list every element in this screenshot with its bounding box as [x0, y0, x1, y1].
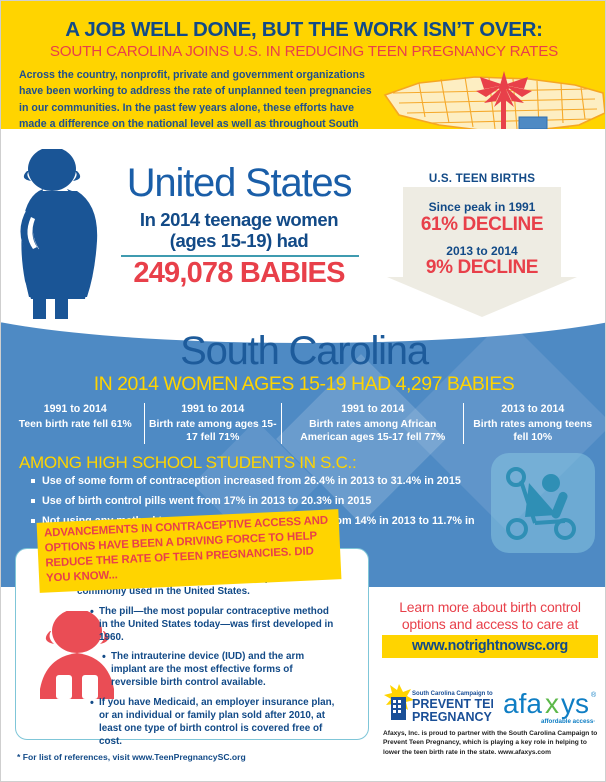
did-you-know-list: There are currently 18 types of contrace… [68, 573, 358, 756]
know-bullet: The pill—the most popular contraceptive … [90, 606, 339, 645]
sc-campaign-logo: South Carolina Campaign to PREVENT TEEN … [381, 681, 493, 725]
callout-period-1: Since peak in 1991 [387, 200, 577, 214]
sc-stat-1-text: Teen birth rate fell 61% [11, 418, 140, 431]
callout-period-2: 2013 to 2014 [387, 244, 577, 258]
sc-stat-3: 1991 to 2014 Birth rates among African A… [281, 403, 463, 444]
us-subtitle: In 2014 teenage women (ages 15-19) had [99, 209, 379, 252]
us-babies-stat: 249,078 BABIES [99, 257, 379, 290]
sc-stat-3-text: Birth rates among African American ages … [286, 418, 459, 445]
know-bullet: The intrauterine device (IUD) and the ar… [102, 651, 341, 690]
hs-bullet: Use of birth control pills went from 17%… [31, 495, 501, 509]
svg-text:®: ® [591, 691, 597, 699]
teen-births-callout-label: U.S. TEEN BIRTHS [387, 172, 577, 185]
sc-stat-4: 2013 to 2014 Birth rates among teens fel… [463, 403, 601, 444]
sc-stat-1-period: 1991 to 2014 [11, 403, 140, 417]
sc-stat-4-text: Birth rates among teens fell 10% [468, 418, 597, 445]
sc-stat-2-text: Birth rate among ages 15-17 fell 71% [149, 418, 278, 445]
did-you-know-card: There are currently 18 types of contrace… [15, 548, 369, 740]
us-section: United States In 2014 teenage women (age… [1, 153, 606, 323]
afaxys-wordmark: afa [503, 688, 542, 719]
learn-more-text: Learn more about birth control options a… [379, 599, 601, 633]
references-note: * For list of references, visit www.Teen… [17, 752, 246, 762]
us-subtitle-line2: (ages 15-19) had [170, 230, 309, 251]
sc-stat-1: 1991 to 2014 Teen birth rate fell 61% [7, 403, 144, 431]
sc-stat-2: 1991 to 2014 Birth rate among ages 15-17… [144, 403, 282, 444]
us-subtitle-line1: In 2014 teenage women [140, 209, 338, 230]
stroller-icon [491, 453, 595, 553]
hs-bullet: Use of some form of contraception increa… [31, 475, 501, 489]
sc-logo-line1: PREVENT TEEN [412, 697, 493, 711]
afaxys-x: x [545, 688, 559, 719]
sc-logo-line2: PREGNANCY [412, 710, 493, 724]
bottom-section: There are currently 18 types of contrace… [1, 587, 606, 782]
infographic-page: A JOB WELL DONE, BUT THE WORK ISN’T OVER… [0, 0, 606, 782]
callout-value-2: 9% DECLINE [387, 257, 577, 279]
sc-stat-4-period: 2013 to 2014 [468, 403, 597, 417]
partner-logos: South Carolina Campaign to PREVENT TEEN … [381, 679, 601, 727]
page-title: A JOB WELL DONE, BUT THE WORK ISN’T OVER… [1, 19, 606, 41]
header-band: A JOB WELL DONE, BUT THE WORK ISN’T OVER… [1, 1, 606, 153]
afaxys-ys: ys [561, 688, 589, 719]
sc-title: South Carolina [1, 331, 606, 371]
us-title: United States [109, 163, 369, 203]
sc-subtitle: IN 2014 WOMEN AGES 15-19 HAD 4,297 BABIE… [1, 373, 606, 396]
did-you-know-banner: ADVANCEMENTS IN CONTRACEPTIVE ACCESS AND… [37, 509, 342, 592]
arrow-head [387, 277, 577, 317]
afaxys-fineprint: Afaxys, Inc. is proud to partner with th… [383, 729, 601, 757]
sc-stats-row: 1991 to 2014 Teen birth rate fell 61% 19… [7, 403, 601, 451]
teen-births-callout: Since peak in 1991 61% DECLINE 2013 to 2… [387, 187, 577, 309]
website-url[interactable]: www.notrightnowsc.org [382, 635, 598, 658]
sc-stat-2-period: 1991 to 2014 [149, 403, 278, 417]
hs-heading: AMONG HIGH SCHOOL STUDENTS IN S.C.: [19, 453, 356, 473]
page-subtitle: SOUTH CAROLINA JOINS U.S. IN REDUCING TE… [1, 43, 606, 60]
callout-value-1: 61% DECLINE [387, 214, 577, 236]
afaxys-logo: afa x ys ® affordable access· [501, 683, 601, 727]
afaxys-tagline: affordable access· [541, 718, 595, 725]
sc-stat-3-period: 1991 to 2014 [286, 403, 459, 417]
know-bullet: If you have Medicaid, an employer insura… [90, 697, 347, 749]
